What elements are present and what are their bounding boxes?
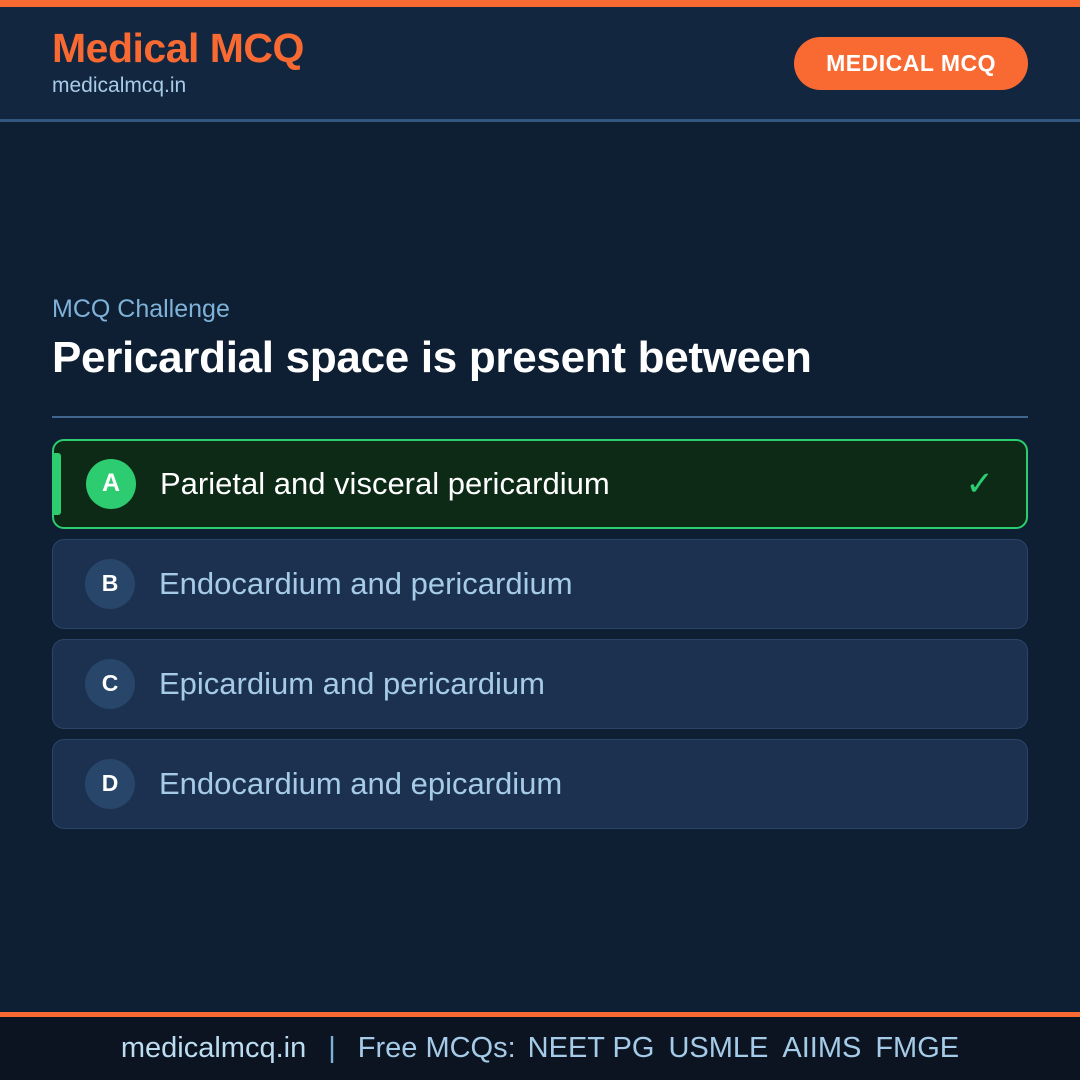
question-title: Pericardial space is present between (52, 332, 932, 384)
page-header: Medical MCQ medicalmcq.in MEDICAL MCQ (0, 7, 1080, 122)
footer-domain: medicalmcq.in (121, 1032, 306, 1065)
footer-label: Free MCQs: (358, 1032, 516, 1065)
footer-text: medicalmcq.in | Free MCQs: NEET PG USMLE… (121, 1032, 959, 1065)
mcq-card: Medical MCQ medicalmcq.in MEDICAL MCQ MC… (0, 0, 1080, 1080)
option-b[interactable]: B Endocardium and pericardium (52, 539, 1028, 629)
correct-accent-bar (54, 453, 61, 515)
top-accent-bar (0, 0, 1080, 7)
option-text: Endocardium and pericardium (159, 565, 1001, 602)
option-letter-badge: B (85, 559, 135, 609)
option-text: Endocardium and epicardium (159, 765, 1001, 802)
eyebrow-label: MCQ Challenge (52, 294, 1028, 324)
brand-subtitle: medicalmcq.in (52, 73, 304, 98)
option-letter-badge: A (86, 459, 136, 509)
footer-exam-fmge: FMGE (875, 1032, 959, 1065)
brand-title: Medical MCQ (52, 27, 304, 70)
footer-exam-aiims: AIIMS (782, 1032, 861, 1065)
footer-separator: | (328, 1032, 336, 1065)
option-letter-badge: C (85, 659, 135, 709)
main-content: MCQ Challenge Pericardial space is prese… (0, 122, 1080, 1012)
option-c[interactable]: C Epicardium and pericardium (52, 639, 1028, 729)
options-list: A Parietal and visceral pericardium ✓ B … (52, 439, 1028, 829)
divider (52, 416, 1028, 418)
page-footer: medicalmcq.in | Free MCQs: NEET PG USMLE… (0, 1012, 1080, 1080)
check-icon: ✓ (966, 467, 995, 501)
header-badge: MEDICAL MCQ (794, 37, 1028, 90)
option-letter-badge: D (85, 759, 135, 809)
footer-exam-usmle: USMLE (668, 1032, 768, 1065)
option-a[interactable]: A Parietal and visceral pericardium ✓ (52, 439, 1028, 529)
option-text: Epicardium and pericardium (159, 665, 1001, 702)
question-block: MCQ Challenge Pericardial space is prese… (52, 294, 1028, 829)
option-text: Parietal and visceral pericardium (160, 465, 966, 502)
footer-exam-neet-pg: NEET PG (528, 1032, 655, 1065)
option-d[interactable]: D Endocardium and epicardium (52, 739, 1028, 829)
brand-block: Medical MCQ medicalmcq.in (52, 27, 304, 98)
